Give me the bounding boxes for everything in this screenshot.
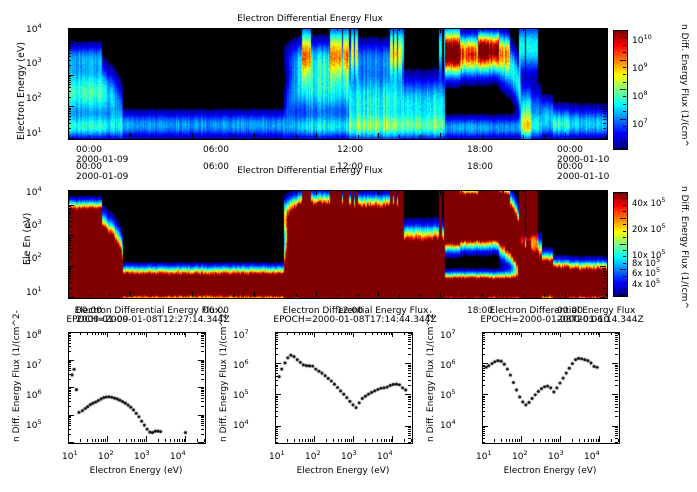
tick-mark [408, 333, 411, 334]
tick-mark [615, 433, 618, 434]
tick-mark [201, 421, 204, 422]
tick-mark [603, 257, 606, 258]
tick-mark [142, 332, 143, 335]
tick-mark [603, 123, 606, 124]
tick-mark [254, 133, 255, 138]
tick-mark [482, 368, 485, 369]
tick-mark [585, 28, 586, 31]
tick-mark [603, 128, 606, 129]
tick-mark [603, 34, 606, 35]
tick-mark [101, 332, 102, 335]
tick-mark [213, 28, 214, 31]
tick-mark [615, 341, 618, 342]
tick-mark [482, 394, 488, 395]
spectrum3-ylabel: n Diff. Energy Flux (1/(cm^2- [426, 310, 436, 442]
tick-mark [501, 332, 502, 335]
tick-mark [408, 370, 411, 371]
tick-mark [192, 190, 193, 195]
tick-mark [170, 439, 171, 442]
tick-mark [494, 332, 495, 335]
tick-mark [517, 332, 518, 335]
tick-mark [512, 332, 513, 335]
tick-mark [68, 240, 71, 241]
tick-mark [596, 332, 597, 335]
tick-mark [408, 373, 411, 374]
tick-mark [603, 278, 606, 279]
spectrum2-ytick-5: 105 [233, 388, 249, 401]
tick-mark [620, 148, 626, 149]
tick-mark [612, 363, 618, 364]
tick-mark [615, 354, 618, 355]
tick-mark [482, 431, 485, 432]
tick-mark [399, 190, 400, 193]
tick-mark [482, 28, 483, 31]
tick-mark [107, 332, 108, 337]
tick-mark [554, 439, 555, 442]
tick-mark [384, 332, 385, 335]
tick-mark [275, 427, 278, 428]
tick-mark [275, 435, 278, 436]
tick-mark [623, 276, 626, 277]
tick-mark [287, 439, 288, 442]
spectrum2-xlabel: Electron Energy (eV) [275, 466, 411, 476]
tick-mark [612, 394, 618, 395]
tick-mark [585, 135, 586, 138]
tick-mark [89, 294, 90, 297]
tick-mark [615, 396, 618, 397]
tick-mark [305, 332, 306, 335]
tick-mark [275, 363, 281, 364]
tick-mark [603, 46, 606, 47]
tick-mark [144, 439, 145, 442]
tick-mark [623, 104, 626, 105]
tick-mark [408, 411, 411, 412]
tick-mark [213, 135, 214, 138]
tick-mark [68, 379, 71, 380]
tick-mark [615, 442, 618, 443]
tick-mark [68, 34, 71, 35]
tick-mark [519, 332, 520, 335]
tick-mark [461, 28, 462, 31]
tick-mark [109, 135, 110, 138]
tick-mark [482, 365, 485, 366]
tick-mark [408, 344, 411, 345]
tick-mark [68, 252, 71, 253]
tick-mark [440, 133, 441, 138]
tick-mark [603, 78, 606, 79]
tick-mark [482, 435, 485, 436]
tick-mark [101, 439, 102, 442]
panel1-xtick-1200: 12:00 [337, 145, 363, 155]
tick-mark [615, 335, 618, 336]
tick-mark [201, 335, 204, 336]
tick-mark [408, 416, 411, 417]
tick-mark [275, 431, 278, 432]
tick-mark [389, 439, 390, 442]
tick-mark [623, 237, 626, 238]
tick-mark [198, 415, 204, 416]
panel1-xtick-2400: 00:00 [557, 145, 583, 155]
tick-mark [620, 30, 626, 31]
tick-mark [68, 362, 71, 363]
tick-mark [275, 429, 278, 430]
tick-mark [275, 368, 278, 369]
tick-mark [615, 370, 618, 371]
spectrum1-xtick-3: 103 [134, 449, 150, 462]
tick-mark [142, 439, 143, 442]
tick-mark [591, 439, 592, 442]
tick-mark [408, 404, 411, 405]
tick-mark [521, 332, 522, 337]
tick-mark [201, 401, 204, 402]
tick-mark [130, 133, 131, 138]
tick-mark [482, 335, 485, 336]
tick-mark [198, 360, 204, 361]
tick-mark [171, 135, 172, 138]
tick-mark [358, 28, 359, 31]
tick-mark [603, 248, 606, 249]
tick-mark [377, 332, 378, 335]
tick-mark [365, 439, 366, 442]
tick-mark [506, 439, 507, 442]
tick-mark [201, 343, 204, 344]
tick-mark [615, 376, 618, 377]
tick-mark [606, 28, 607, 31]
tick-mark [603, 45, 606, 46]
tick-mark [158, 332, 159, 335]
tick-mark [68, 138, 74, 139]
tick-mark [408, 433, 411, 434]
tick-mark [593, 439, 594, 442]
tick-mark [523, 190, 524, 193]
tick-mark [618, 439, 619, 442]
tick-mark [615, 337, 618, 338]
tick-mark [408, 429, 411, 430]
tick-mark [615, 427, 618, 428]
tick-mark [68, 226, 71, 227]
tick-mark [275, 190, 276, 193]
tick-mark [603, 53, 606, 54]
tick-mark [603, 195, 606, 196]
tick-mark [68, 416, 71, 417]
tick-mark [345, 439, 346, 442]
tick-mark [275, 394, 281, 395]
tick-mark [109, 294, 110, 297]
tick-mark [146, 332, 147, 337]
tick-mark [405, 394, 411, 395]
tick-mark [519, 439, 520, 442]
tick-mark [68, 209, 71, 210]
tick-mark [68, 374, 71, 375]
tick-mark [482, 396, 485, 397]
tick-mark [603, 84, 606, 85]
tick-mark [482, 332, 488, 333]
tick-mark [68, 282, 71, 283]
tick-mark [68, 271, 71, 272]
tick-mark [275, 335, 278, 336]
tick-mark [372, 439, 373, 442]
tick-mark [615, 344, 618, 345]
tick-mark [68, 205, 74, 206]
tick-mark [296, 190, 297, 193]
tick-mark [174, 332, 175, 335]
tick-mark [482, 416, 485, 417]
tick-mark [68, 442, 74, 443]
panel2-xdate-left: 2000-01-09 [76, 172, 128, 182]
tick-mark [68, 425, 71, 426]
tick-mark [201, 429, 204, 430]
tick-mark [620, 244, 626, 245]
tick-mark [275, 332, 281, 333]
tick-mark [600, 43, 606, 44]
spectrum1-ytick-7: 107 [26, 358, 42, 371]
tick-mark [171, 294, 172, 297]
tick-mark [623, 52, 626, 53]
tick-mark [68, 108, 71, 109]
tick-mark [615, 404, 618, 405]
tick-mark [275, 341, 278, 342]
tick-mark [405, 332, 411, 333]
tick-mark [201, 434, 204, 435]
tick-mark [68, 278, 71, 279]
tick-mark [384, 439, 385, 442]
tick-mark [482, 370, 485, 371]
tick-mark [68, 97, 71, 98]
tick-mark [620, 89, 626, 90]
tick-mark [314, 332, 315, 337]
tick-mark [408, 399, 411, 400]
tick-mark [201, 340, 204, 341]
tick-mark [89, 135, 90, 138]
tick-mark [275, 438, 278, 439]
tick-mark [130, 190, 131, 195]
tick-mark [201, 370, 204, 371]
spectrum3-ytick-6: 106 [440, 358, 456, 371]
tick-mark [351, 332, 352, 335]
tick-mark [405, 363, 411, 364]
tick-mark [408, 431, 411, 432]
tick-mark [68, 351, 71, 352]
tick-mark [556, 439, 557, 442]
tick-mark [68, 333, 71, 334]
tick-mark [95, 439, 96, 442]
spectrum2-xtick-3: 103 [341, 449, 357, 462]
tick-mark [68, 340, 71, 341]
tick-mark [408, 368, 411, 369]
tick-mark [68, 275, 71, 276]
tick-mark [600, 235, 606, 236]
tick-mark [131, 332, 132, 335]
tick-mark [201, 425, 204, 426]
tick-mark [411, 332, 412, 335]
tick-mark [408, 401, 411, 402]
tick-mark [347, 332, 348, 335]
tick-mark [201, 419, 204, 420]
tick-mark [68, 423, 71, 424]
tick-mark [579, 439, 580, 442]
tick-mark [140, 332, 141, 335]
spectrum3-xtick-3: 103 [548, 449, 564, 462]
tick-mark [151, 28, 152, 31]
tick-mark [275, 396, 278, 397]
tick-mark [420, 190, 421, 193]
tick-mark [615, 380, 618, 381]
tick-mark [68, 111, 71, 112]
tick-mark [408, 354, 411, 355]
tick-mark [275, 28, 276, 31]
tick-mark [503, 292, 504, 297]
tick-mark [68, 235, 74, 236]
tick-mark [620, 119, 626, 120]
tick-mark [603, 212, 606, 213]
spectrum1-xtick-4: 104 [170, 449, 186, 462]
tick-mark [523, 294, 524, 297]
tick-mark [612, 332, 618, 333]
tick-mark [603, 111, 606, 112]
tick-mark [68, 56, 71, 57]
tick-mark [68, 346, 71, 347]
tick-mark [68, 393, 71, 394]
tick-mark [482, 294, 483, 297]
tick-mark [326, 332, 327, 335]
tick-mark [275, 348, 278, 349]
panel1-xtick-0600: 06:00 [203, 145, 229, 155]
tick-mark [275, 380, 278, 381]
tick-mark [68, 370, 71, 371]
panel1-xtick-0000: 00:00 [76, 145, 102, 155]
tick-mark [603, 87, 606, 88]
tick-mark [109, 190, 110, 193]
tick-mark [103, 439, 104, 442]
tick-mark [68, 53, 71, 54]
tick-mark [68, 75, 74, 76]
tick-mark [254, 292, 255, 297]
spectrum2-xtick-1: 101 [269, 449, 285, 462]
tick-mark [603, 268, 606, 269]
spectrum2-ytick-4: 104 [233, 418, 249, 431]
tick-mark [68, 338, 71, 339]
spectrum3-xtick-2: 102 [512, 449, 528, 462]
tick-mark [68, 128, 71, 129]
tick-mark [585, 294, 586, 297]
tick-mark [68, 116, 71, 117]
tick-mark [275, 373, 278, 374]
tick-mark [552, 332, 553, 335]
tick-mark [358, 294, 359, 297]
tick-mark [302, 332, 303, 335]
tick-mark [349, 439, 350, 442]
tick-mark [68, 48, 71, 49]
panel1-ytick-1: 101 [26, 126, 42, 139]
tick-mark [349, 332, 350, 335]
tick-mark [92, 332, 93, 335]
tick-mark [68, 238, 71, 239]
tick-mark [615, 365, 618, 366]
figure-root: Electron Differential Energy Flux Electr… [0, 0, 697, 492]
panel2-xtick-1800: 18:00 [467, 162, 493, 172]
tick-mark [399, 28, 400, 31]
spectrum3-epoch: EPOCH=2000-01-08T20:06:14.344Z [462, 315, 662, 325]
tick-mark [275, 397, 278, 398]
tick-mark [603, 217, 606, 218]
tick-mark [482, 341, 485, 342]
tick-mark [275, 354, 278, 355]
tick-mark [381, 332, 382, 335]
panel2-xtick-0600: 06:00 [203, 162, 229, 172]
tick-mark [603, 271, 606, 272]
tick-mark [68, 123, 71, 124]
panel2-xtick-0000: 00:00 [76, 162, 102, 172]
tick-mark [275, 407, 278, 408]
tick-mark [404, 439, 405, 442]
tick-mark [107, 436, 108, 442]
tick-mark [98, 332, 99, 335]
panel2-cbtick-20: 20x 105 [632, 222, 666, 235]
tick-mark [68, 50, 71, 51]
tick-mark [316, 292, 317, 297]
tick-mark [623, 111, 626, 112]
tick-mark [201, 423, 204, 424]
tick-mark [95, 332, 96, 335]
spectrum1-ytick-8: 108 [26, 328, 42, 341]
tick-mark [68, 368, 71, 369]
tick-mark [515, 439, 516, 442]
tick-mark [151, 135, 152, 138]
tick-mark [623, 45, 626, 46]
tick-mark [275, 339, 278, 340]
tick-mark [254, 28, 255, 33]
tick-mark [68, 288, 71, 289]
tick-mark [68, 76, 71, 77]
tick-mark [201, 406, 204, 407]
tick-mark [68, 269, 71, 270]
tick-mark [623, 289, 626, 290]
tick-mark [600, 205, 606, 206]
tick-mark [603, 65, 606, 66]
tick-mark [378, 133, 379, 138]
tick-mark [130, 292, 131, 297]
tick-mark [198, 387, 204, 388]
tick-mark [68, 82, 71, 83]
tick-mark [179, 439, 180, 442]
tick-mark [68, 195, 71, 196]
spectrum1-ytick-5: 105 [26, 418, 42, 431]
tick-mark [623, 74, 626, 75]
tick-mark [201, 364, 204, 365]
tick-mark [177, 332, 178, 335]
tick-mark [310, 439, 311, 442]
tick-mark [623, 133, 626, 134]
tick-mark [603, 76, 606, 77]
spectrum2-epoch: EPOCH=2000-01-08T17:14:44.344Z [255, 315, 455, 325]
tick-mark [623, 126, 626, 127]
tick-mark [333, 439, 334, 442]
tick-mark [174, 439, 175, 442]
tick-mark [623, 250, 626, 251]
spectrum1-xtick-1: 101 [62, 449, 78, 462]
tick-mark [603, 97, 606, 98]
tick-mark [68, 434, 71, 435]
tick-mark [201, 388, 204, 389]
tick-mark [68, 78, 71, 79]
tick-mark [192, 292, 193, 297]
tick-mark [615, 431, 618, 432]
spectrum3-xlabel: Electron Energy (eV) [482, 466, 618, 476]
tick-mark [337, 190, 338, 193]
tick-mark [606, 190, 607, 193]
tick-mark [408, 365, 411, 366]
tick-mark [201, 338, 204, 339]
